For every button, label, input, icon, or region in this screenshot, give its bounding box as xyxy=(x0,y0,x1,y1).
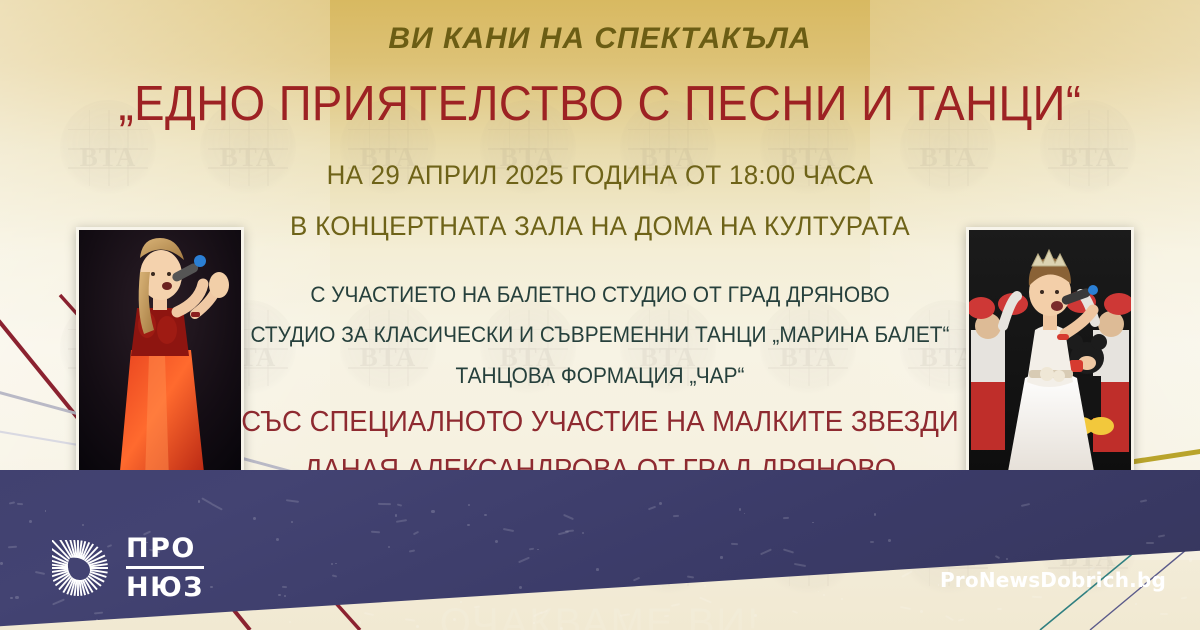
footer-speckle xyxy=(286,500,299,504)
footer-speckle xyxy=(648,505,656,510)
venue-line: В КОНЦЕРТНАТА ЗАЛА НА ДОМА НА КУЛТУРАТА xyxy=(24,211,1176,242)
footer-speckle xyxy=(467,524,470,527)
footer-speckle xyxy=(201,498,212,505)
footer-speckle xyxy=(82,524,84,526)
footer-speckle xyxy=(1006,558,1008,560)
participant-line-3: ТАНЦОВА ФОРМАЦИЯ „ЧАР“ xyxy=(30,363,1170,389)
footer-speckle xyxy=(503,528,514,532)
footer-speckle xyxy=(888,539,891,542)
footer-speckle xyxy=(282,586,288,588)
footer-speckle xyxy=(558,531,569,536)
footer-speckle xyxy=(29,520,32,523)
footer-speckle xyxy=(794,563,806,567)
footer-speckle xyxy=(518,557,530,564)
footer-speckle xyxy=(278,594,280,596)
footer-speckle xyxy=(823,594,825,596)
footer-speckle xyxy=(371,531,380,534)
footer-speckle xyxy=(8,546,17,549)
footer-speckle xyxy=(0,562,2,564)
footer-speckle xyxy=(397,503,402,506)
website-label[interactable]: ProNewsDobrich.bg xyxy=(940,568,1166,592)
footer-speckle xyxy=(744,513,746,515)
invite-line: ВИ КАНИ НА СПЕКТАКЪЛА xyxy=(0,22,1200,56)
footer-speckle xyxy=(812,522,814,524)
footer-speckle xyxy=(783,549,794,554)
footer-speckle xyxy=(495,540,498,543)
footer-speckle xyxy=(284,595,286,597)
footer-speckle xyxy=(17,503,23,505)
footer-speckle xyxy=(9,502,15,505)
participant-line-1: С УЧАСТИЕТО НА БАЛЕТНО СТУДИО ОТ ГРАД ДР… xyxy=(30,282,1170,308)
logo-line-1: ПРО xyxy=(126,535,204,562)
footer-speckle xyxy=(291,521,293,523)
date-line: НА 29 АПРИЛ 2025 ГОДИНА ОТ 18:00 ЧАСА xyxy=(24,160,1176,191)
footer-speckle xyxy=(673,515,679,517)
footer-speckle xyxy=(902,570,914,578)
footer-speckle xyxy=(468,504,470,506)
closing-note: ОЧАКВАМЕ ВИ! xyxy=(0,601,1200,630)
footer-speckle xyxy=(938,584,940,586)
footer-speckle xyxy=(431,510,434,513)
footer-speckle xyxy=(1146,542,1154,544)
footer-speckle xyxy=(660,586,662,588)
footer-speckle xyxy=(596,568,599,571)
footer-speckle xyxy=(1181,597,1187,600)
footer-speckle xyxy=(1032,595,1042,598)
footer-speckle xyxy=(484,514,486,516)
footer-speckle xyxy=(45,510,47,512)
footer-speckle xyxy=(537,549,539,551)
footer-speckle xyxy=(731,542,738,544)
participant-line-2: СТУДИО ЗА КЛАСИЧЕСКИ И СЪВРЕМЕННИ ТАНЦИ … xyxy=(30,322,1170,348)
footer-speckle xyxy=(1021,503,1030,507)
footer-speckle xyxy=(15,596,18,599)
special-guest-line-1: СЪС СПЕЦИАЛНОТО УЧАСТИЕ НА МАЛКИТЕ ЗВЕЗД… xyxy=(30,406,1170,439)
logo-line-2: НЮЗ xyxy=(126,574,204,601)
footer-speckle xyxy=(704,585,706,587)
footer-speckle xyxy=(210,586,212,588)
event-poster: BTABTABTABTABTABTABTABTABTABTABTABTABTAB… xyxy=(0,0,1200,630)
page-title: „ЕДНО ПРИЯТЕЛСТВО С ПЕСНИ И ТАНЦИ“ xyxy=(42,76,1158,132)
pronews-wordmark: ПРО НЮЗ xyxy=(126,535,204,601)
footer-speckle xyxy=(1158,535,1165,538)
footer-speckle xyxy=(198,500,201,503)
footer-speckle xyxy=(253,517,256,520)
logo-divider xyxy=(126,566,204,569)
footer-speckle xyxy=(413,530,419,535)
footer-speckle xyxy=(760,548,771,555)
footer-speckle xyxy=(874,513,876,515)
footer-speckle xyxy=(739,508,742,511)
footer-speckle xyxy=(212,504,224,512)
footer-speckle xyxy=(1183,557,1185,559)
footer-speckle xyxy=(331,563,333,565)
footer-speckle xyxy=(10,597,12,599)
footer-speckle xyxy=(276,538,279,541)
footer-speckle xyxy=(659,502,662,505)
footer-speckle xyxy=(1140,500,1147,503)
footer-speckle xyxy=(409,549,416,552)
footer-speckle xyxy=(519,586,522,589)
footer-speckle xyxy=(783,517,789,519)
pronews-logo[interactable]: ПРО НЮЗ xyxy=(44,534,204,602)
footer-speckle xyxy=(870,541,874,543)
footer-speckle xyxy=(335,563,337,565)
footer-speckle xyxy=(331,574,336,577)
footer-speckle xyxy=(563,514,574,520)
footer-speckle xyxy=(995,555,1000,559)
footer-speckle xyxy=(1189,558,1192,561)
pronews-d-icon xyxy=(44,534,112,602)
footer-speckle xyxy=(687,575,694,578)
footer-speckle xyxy=(633,577,641,582)
footer-speckle xyxy=(841,598,843,600)
footer-speckle xyxy=(720,556,722,558)
footer-speckle xyxy=(396,519,407,523)
footer-speckle xyxy=(529,548,535,551)
footer-speckle xyxy=(378,503,391,505)
footer-speckle xyxy=(395,514,397,516)
footer-speckle xyxy=(582,532,584,534)
footer-speckle xyxy=(818,591,820,593)
footer-speckle xyxy=(388,546,390,548)
